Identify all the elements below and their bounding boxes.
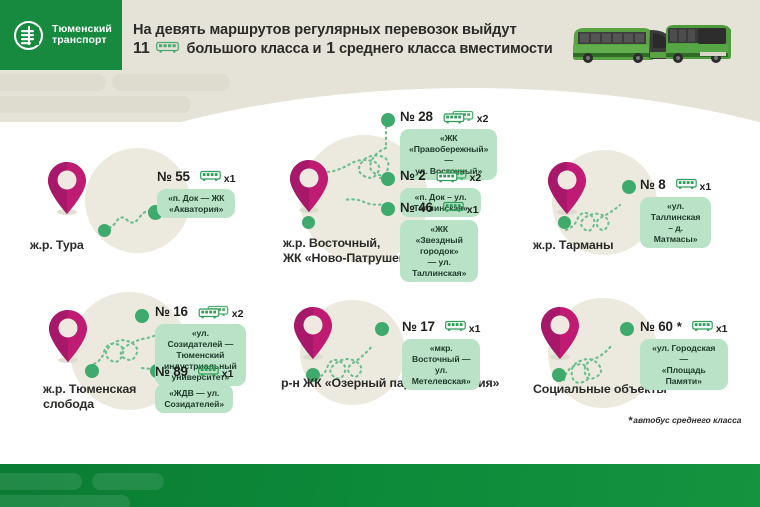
headline-line-1: На девять маршрутов регулярных перевозок… [133,22,563,39]
route-header: № 55 x1 [157,168,235,185]
route-number: № 8 [640,177,666,192]
header-decor-bar [112,74,230,91]
tyumen-transport-logo-icon [13,20,44,51]
header-decor-bar [0,74,106,91]
route-end-dot [375,322,389,336]
route-label-pill: «ул. Таллинская – д. Матмасы» [640,197,711,248]
route-label-line: «ул. Городская — [649,343,719,365]
route-label-pill: «ул. Городская — «Площадь Памяти» [640,339,728,390]
place-line: ж.р. Тарманы [533,238,613,253]
route-label-pill: «ЖК «Звездный городок» — ул. Таллинская» [400,220,478,282]
route-header: № 16 [155,303,246,320]
route-star-marker: * [677,319,682,334]
route-number: № 55 [157,169,190,184]
card-place-label: ж.р. Тура [30,238,84,253]
route-label-line: «ЖК «Звездный городок» [409,224,469,257]
route-number: № 2 [400,168,426,183]
route-end-dot [381,113,395,127]
route-end-dot [381,172,395,186]
footer-decor-bar [0,495,130,507]
route-bus-count: x1 [224,173,236,185]
brand-logo-text: Тюменский транспорт [52,24,112,47]
route-start-dot [558,216,571,229]
footer-decor-bar [92,473,164,490]
footnote: *автобус среднего класса [628,414,741,426]
headline-mid-text: большого класса и [187,39,322,59]
infographic-canvas: Тюменский транспорт На девять маршрутов … [0,0,760,507]
bus-icon [436,169,468,183]
map-pin-icon [47,160,87,216]
route-end-dot [622,180,636,194]
route-item-46: № 46 x1 «ЖК «Звездный городок» [400,199,478,282]
map-pin-icon [48,308,88,364]
brand-logo: Тюменский транспорт [0,0,122,70]
map-pin-icon [289,158,329,214]
bus-icon [443,201,465,214]
two-green-buses-photo [566,12,756,78]
route-header: № 2 [400,167,481,184]
bus-icon [156,40,180,60]
bus-icon [198,305,230,319]
card-place-label: ж.р. Тюменская слобода [43,382,136,411]
headline-count-medium: 1 [326,39,335,59]
route-bus-count: x1 [469,323,481,335]
bus-icon [692,320,714,333]
route-label-line: «ЖДВ — ул. Созидателей» [164,388,224,410]
bus-icon [445,320,467,333]
route-number: № 46 [400,200,433,215]
route-header: № 28 [400,108,497,125]
route-end-dot [620,322,634,336]
brand-logo-line2: транспорт [52,35,112,47]
route-end-dot [381,202,395,216]
place-line: ж.р. Тура [30,238,84,253]
route-label-pill: «п. Док — ЖК «Акватория» [157,189,235,218]
route-item-89: № 89 x1 «ЖДВ — ул. Созидателей» [155,363,233,413]
route-label-pill: «мкр. Восточный — ул. Метелевская» [402,339,480,390]
route-bus-count: x2 [232,308,244,320]
route-bus-count: x1 [222,368,234,380]
route-bus-count: x1 [467,204,479,216]
route-item-8: № 8 x1 «ул. Таллинская – д. Матмасы» [640,176,711,248]
footer-band [0,464,760,507]
route-number: № 16 [155,304,188,319]
footnote-asterisk: * [628,415,632,427]
route-label-line: «п. Док — ЖК «Акватория» [166,193,226,215]
route-label-line: — ул. Таллинская» [409,257,469,279]
route-item-17: № 17 x1 «мкр. Восточный — ул. М [402,318,480,390]
place-line: слобода [43,397,136,412]
route-bus-count: x1 [700,181,712,193]
route-label-line: «мкр. Восточный — [411,343,471,365]
route-label-line: «Площадь Памяти» [649,365,719,387]
footer-decor-bar [0,473,82,490]
bus-icon [200,170,222,183]
route-start-dot [552,368,566,382]
route-item-55: № 55 x1 «п. Док — ЖК «Акватория» [157,168,235,218]
route-number: № 60 [640,319,673,334]
route-label-line: «ЖК «Правобережный» — [409,133,488,166]
route-bus-count: x1 [716,323,728,335]
route-start-dot [85,364,99,378]
route-bus-count: x2 [470,172,482,184]
route-start-dot [98,224,111,237]
route-label-line: ул. Метелевская» [411,365,471,387]
footnote-text: автобус среднего класса [633,415,741,425]
route-label-line: «ул. Созидателей — [164,328,237,350]
headline-end-text: среднего класса вместимости [339,39,553,59]
headline-count-large: 11 [133,39,150,59]
route-label-line: «ул. Таллинская – д. Матмасы» [649,201,702,245]
route-header: № 60 * x1 [640,318,728,335]
headline: На девять маршрутов регулярных перевозок… [133,22,563,59]
route-number: № 17 [402,319,435,334]
map-pin-icon [547,160,587,216]
route-header: № 46 x1 [400,199,478,216]
route-label-pill: «ЖДВ — ул. Созидателей» [155,384,233,413]
map-pin-icon [540,305,580,361]
header-decor-bar [0,96,191,113]
route-end-dot [135,309,149,323]
route-item-60: № 60 * x1 «ул. Городская — [640,318,728,390]
route-number: № 89 [155,364,188,379]
route-header: № 17 x1 [402,318,480,335]
route-start-dot [302,216,315,229]
headline-line-2: 11 большого класса и 1 среднего класса в… [133,39,563,59]
bus-icon [676,178,698,191]
place-line: ж.р. Тюменская [43,382,136,397]
map-pin-icon [293,305,333,361]
bus-icon [443,110,475,124]
route-header: № 8 x1 [640,176,711,193]
route-number: № 28 [400,109,433,124]
card-place-label: ж.р. Тарманы [533,238,613,253]
route-header: № 89 x1 [155,363,233,380]
bus-icon [198,365,220,378]
route-bus-count: x2 [477,113,489,125]
